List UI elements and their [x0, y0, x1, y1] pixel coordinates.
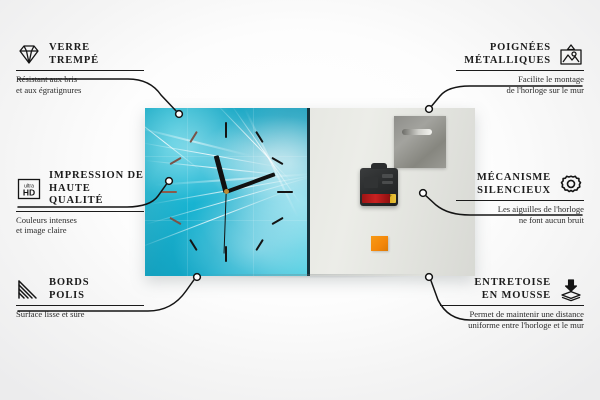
- feature-title: ENTRETOISE EN MOUSSE: [474, 277, 551, 302]
- product-photo: +: [145, 108, 475, 276]
- feature-subtitle-1: Résistant aux bris: [16, 74, 144, 85]
- hour-tick: [271, 217, 283, 225]
- quartz-mechanism: +: [360, 168, 398, 206]
- feature-title: POIGNÉES MÉTALLIQUES: [464, 42, 551, 67]
- feature-subtitle-2: et aux égratignures: [16, 85, 144, 96]
- hour-tick: [277, 191, 293, 193]
- feature-header: ultra HD IMPRESSION DE HAUTE QUALITÉ: [16, 170, 144, 208]
- hour-tick: [225, 246, 227, 262]
- mechanism-hook: [371, 163, 387, 169]
- hour-tick: [255, 131, 263, 143]
- foam-spacer: [371, 236, 388, 251]
- feature-subtitle-1: Surface lisse et sûre: [16, 309, 144, 320]
- feature-subtitle-2: et image claire: [16, 225, 144, 236]
- clock-back-panel: +: [310, 108, 475, 276]
- clock-glass-face: [145, 108, 310, 276]
- hour-tick: [271, 157, 283, 165]
- feature-subtitle-2: uniforme entre l'horloge et le mur: [440, 320, 584, 331]
- product-drop-shadow: [145, 274, 477, 284]
- feature-header: ENTRETOISE EN MOUSSE: [440, 277, 584, 302]
- feature-header: POIGNÉES MÉTALLIQUES: [456, 42, 584, 67]
- title-underline: [16, 305, 144, 306]
- hour-hand: [214, 155, 229, 193]
- svg-text:HD: HD: [23, 187, 35, 197]
- hour-tick: [169, 157, 181, 165]
- title-underline: [456, 70, 584, 71]
- hour-tick: [161, 191, 177, 193]
- diamond-icon: [16, 43, 42, 67]
- hour-tick: [255, 239, 263, 251]
- hanging-frame-icon: [558, 43, 584, 67]
- feature-entretoise-en-mousse: ENTRETOISE EN MOUSSE Permet de maintenir…: [440, 277, 584, 330]
- feature-verre-trempe: VERRE TREMPÉ Résistant aux bris et aux é…: [16, 42, 144, 95]
- feature-title: VERRE TREMPÉ: [49, 42, 99, 67]
- hour-tick: [225, 122, 227, 138]
- battery: +: [362, 194, 396, 203]
- feature-bords-polis: BORDS POLIS Surface lisse et sûre: [16, 277, 144, 320]
- title-underline: [16, 211, 144, 212]
- feature-header: BORDS POLIS: [16, 277, 144, 302]
- hour-tick: [169, 217, 181, 225]
- title-underline: [16, 70, 144, 71]
- clock-dial: [145, 108, 307, 276]
- feature-subtitle-1: Les aiguilles de l'horloge: [456, 204, 584, 215]
- feature-subtitle-1: Couleurs intenses: [16, 215, 144, 226]
- feature-subtitle-2: de l'horloge sur le mur: [456, 85, 584, 96]
- feature-header: VERRE TREMPÉ: [16, 42, 144, 67]
- metal-hanger-bracket: [394, 116, 446, 168]
- feature-title: BORDS POLIS: [49, 277, 89, 302]
- feature-impression-haute-qualite: ultra HD IMPRESSION DE HAUTE QUALITÉ Cou…: [16, 170, 144, 236]
- feature-title: MÉCANISME SILENCIEUX: [477, 172, 551, 197]
- feature-subtitle-1: Permet de maintenir une distance: [440, 309, 584, 320]
- clock-center-cap: [224, 189, 229, 194]
- title-underline: [440, 305, 584, 306]
- feature-poignees-metalliques: POIGNÉES MÉTALLIQUES Facilite le montage…: [456, 42, 584, 95]
- mechanism-detail: [382, 174, 393, 178]
- feature-header: MÉCANISME SILENCIEUX: [456, 172, 584, 197]
- feature-subtitle-2: ne font aucun bruit: [456, 215, 584, 226]
- feature-title: IMPRESSION DE HAUTE QUALITÉ: [49, 170, 144, 208]
- gear-icon: [558, 173, 584, 197]
- feature-subtitle-1: Facilite le montage: [456, 74, 584, 85]
- hour-tick: [189, 131, 197, 143]
- infographic-canvas: +: [0, 0, 600, 400]
- minute-hand: [225, 172, 275, 194]
- foam-spacer-icon: [558, 278, 584, 302]
- ultra-hd-icon: ultra HD: [16, 177, 42, 201]
- bracket-slot: [402, 129, 432, 135]
- mechanism-detail: [382, 181, 393, 184]
- second-hand: [223, 192, 227, 254]
- feature-mecanisme-silencieux: MÉCANISME SILENCIEUX Les aiguilles de l'…: [456, 172, 584, 225]
- title-underline: [456, 200, 584, 201]
- hour-tick: [189, 239, 197, 251]
- polished-edge-icon: [16, 278, 42, 302]
- mechanism-detail: [364, 177, 378, 188]
